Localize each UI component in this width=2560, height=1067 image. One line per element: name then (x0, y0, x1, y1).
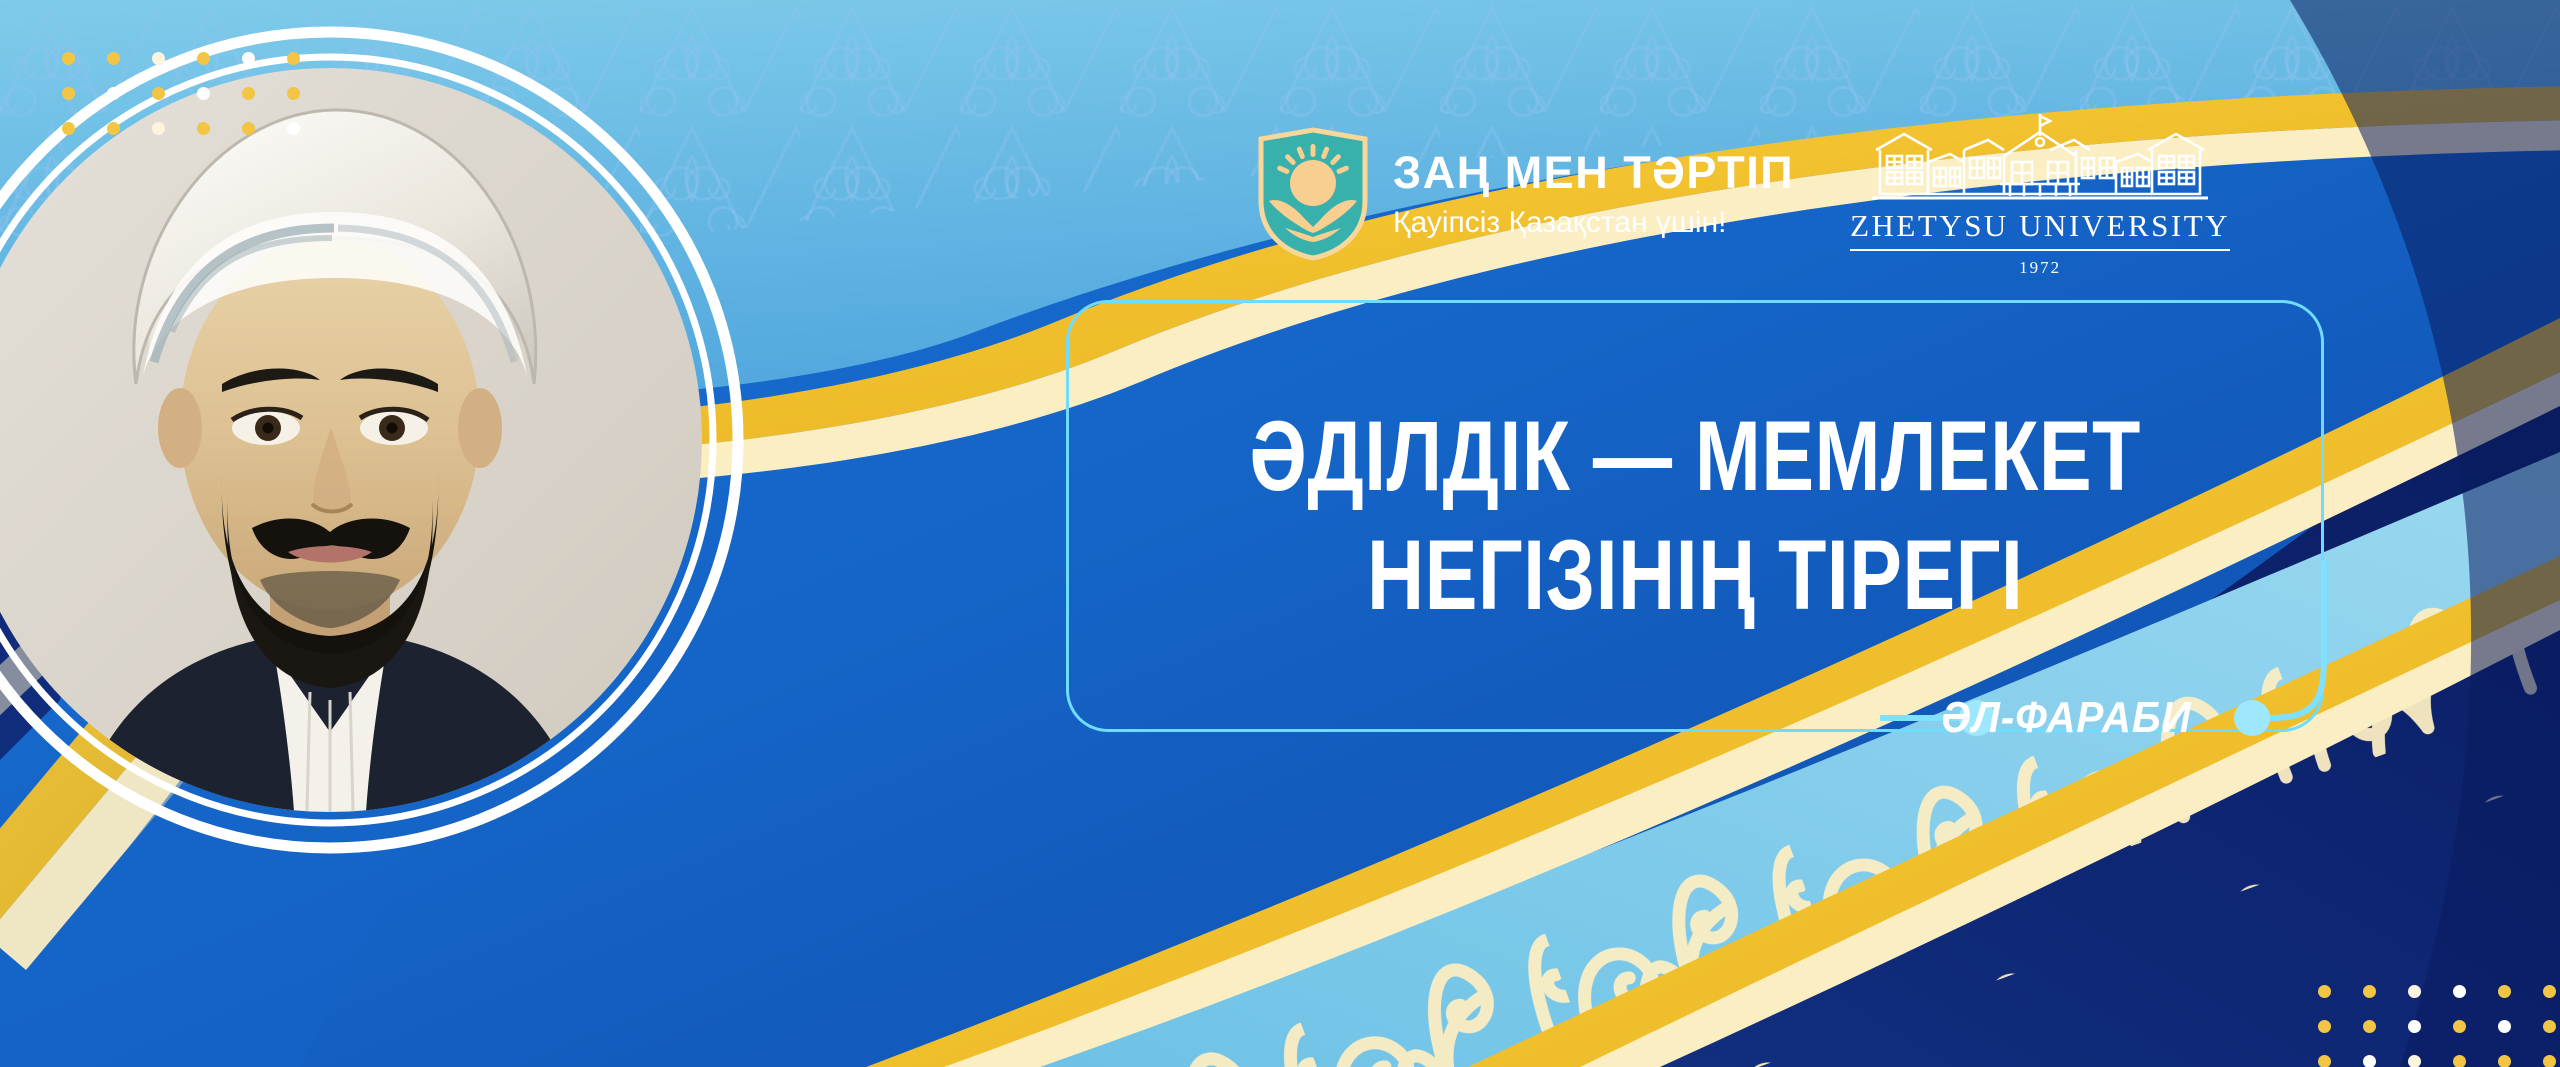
banner-root: ЗАҢ МЕН ТӘРТІП Қауіпсіз Қазақстан үшін! (0, 0, 2560, 1067)
attribution-dot-right (2234, 700, 2270, 736)
quote-author-label: ӘЛ-ФАРАБИ (1941, 693, 2192, 743)
attribution-connectors (0, 0, 2560, 1067)
quote-author: ӘЛ-ФАРАБИ (1930, 692, 2202, 744)
